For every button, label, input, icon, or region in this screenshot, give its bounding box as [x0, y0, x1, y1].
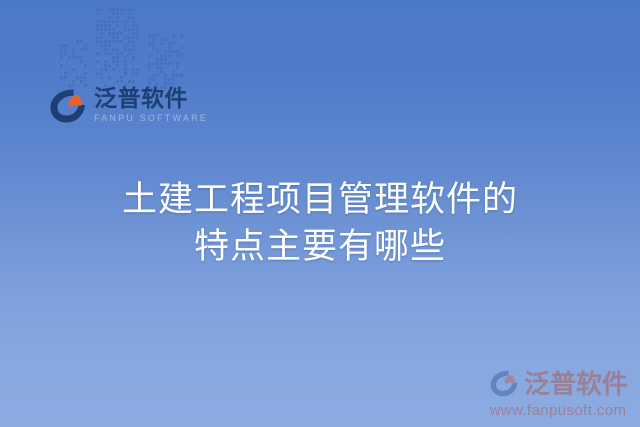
brand-name-cn: 泛普软件: [94, 87, 208, 111]
headline: 土建工程项目管理软件的 特点主要有哪些: [0, 176, 640, 270]
brand-name-en: FANPU SOFTWARE: [94, 112, 208, 126]
right-tower: [148, 34, 184, 90]
headline-line-2: 特点主要有哪些: [0, 223, 640, 270]
brand-logo: 泛普软件 FANPU SOFTWARE: [47, 86, 208, 126]
center-tower: [96, 8, 140, 90]
watermark-brand: 泛普软件: [488, 368, 628, 399]
fanpu-logo-mark-icon: [47, 86, 87, 126]
brand-wordmark: 泛普软件 FANPU SOFTWARE: [94, 87, 208, 125]
watermark-brand-name: 泛普软件: [524, 371, 628, 397]
left-tower: [60, 40, 90, 90]
pixel-skyline-decoration: [60, 8, 188, 90]
watermark: 泛普软件 www.fanpusoft.com: [488, 368, 628, 419]
fanpu-watermark-mark-icon: [488, 368, 519, 399]
headline-line-1: 土建工程项目管理软件的: [0, 176, 640, 223]
banner-image: 泛普软件 FANPU SOFTWARE 土建工程项目管理软件的 特点主要有哪些 …: [0, 0, 640, 427]
watermark-url: www.fanpusoft.com: [488, 402, 628, 419]
